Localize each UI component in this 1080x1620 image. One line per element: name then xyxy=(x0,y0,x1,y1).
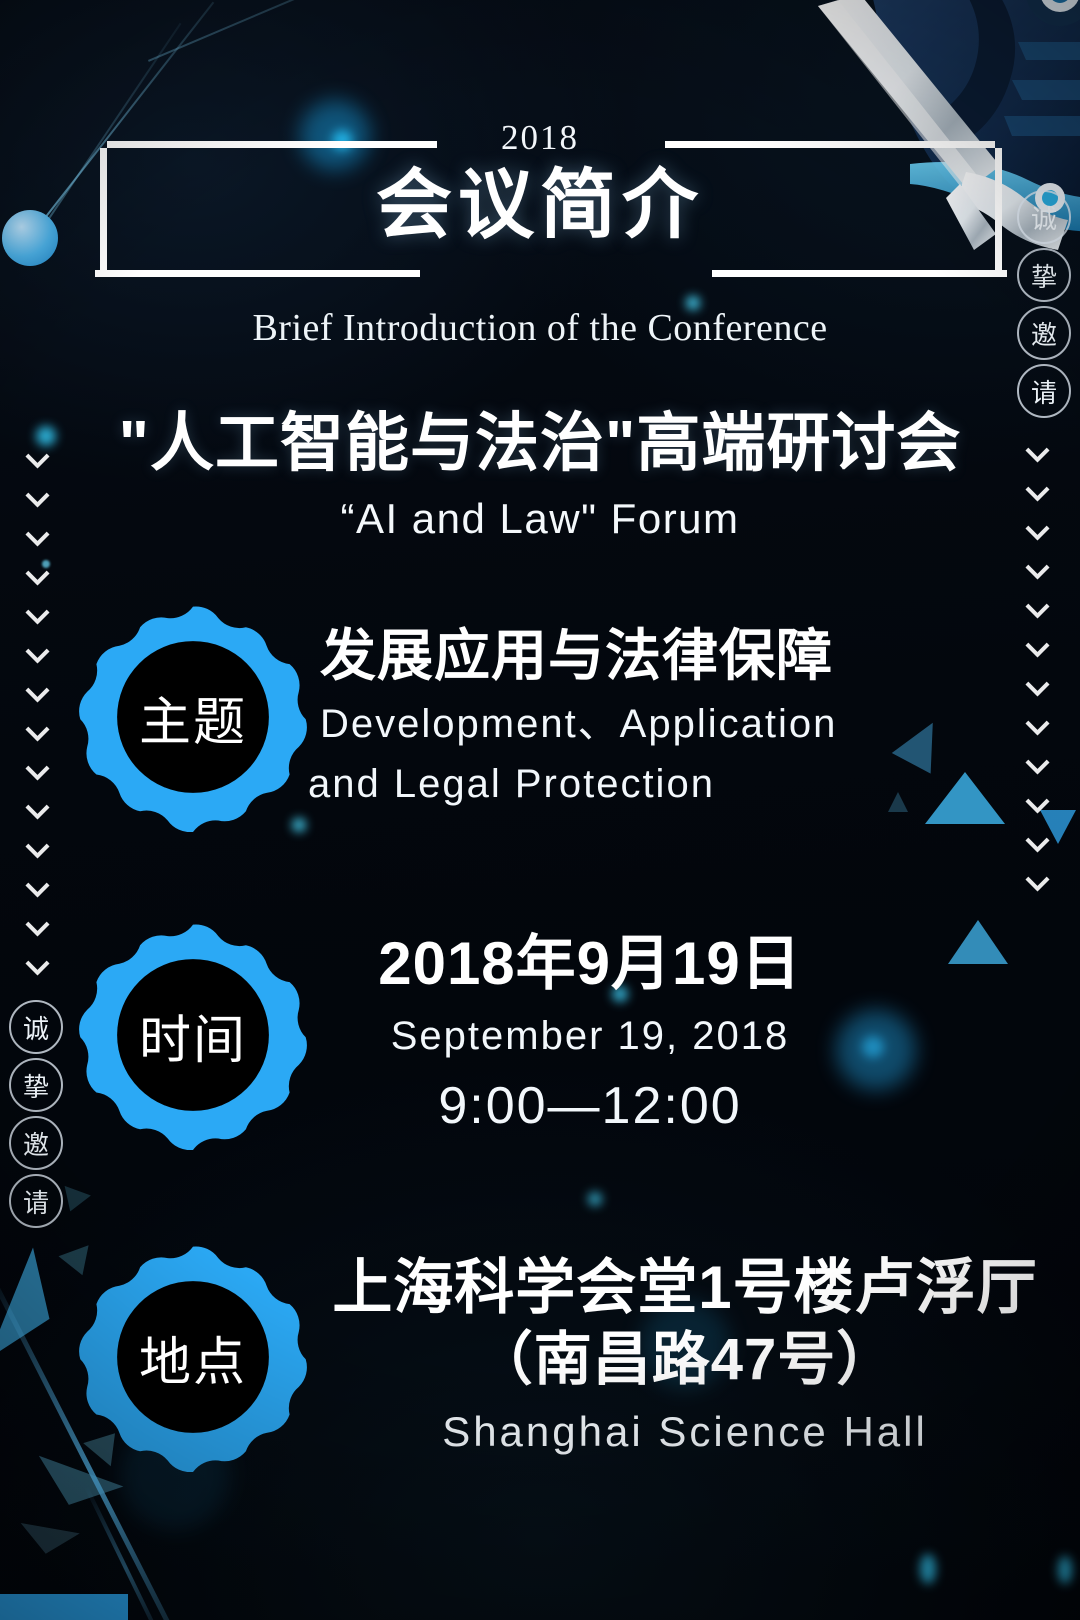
venue-badge-label: 地点 xyxy=(139,1320,247,1395)
theme-badge-label: 主题 xyxy=(139,680,247,755)
time-badge-label: 时间 xyxy=(139,998,247,1073)
poster-canvas: 2018 会议简介 Brief Introduction of the Conf… xyxy=(0,0,1080,1620)
